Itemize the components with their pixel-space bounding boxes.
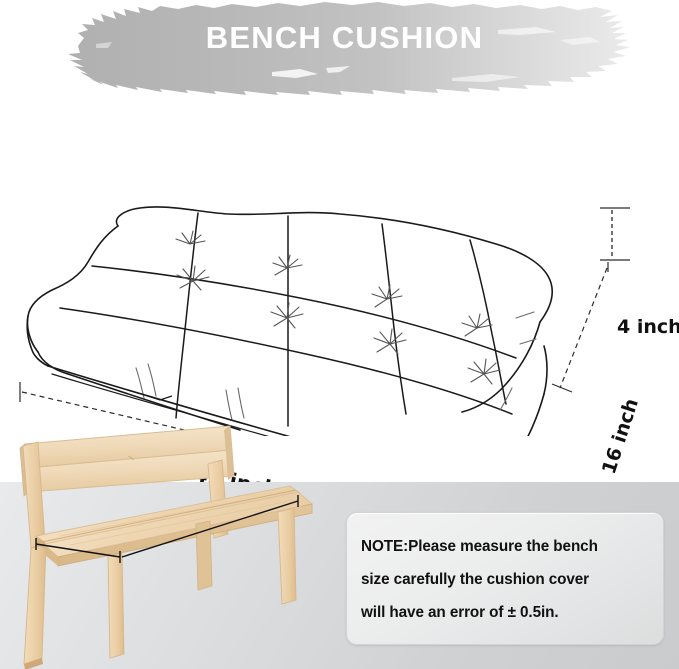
wooden-bench-graphic (0, 414, 340, 669)
infographic-page: BENCH CUSHION (0, 0, 679, 669)
note-line-2: size carefully the cushion cover (361, 563, 649, 596)
header-banner: BENCH CUSHION (0, 0, 679, 100)
bench-illustration: Wide Length (0, 414, 340, 669)
page-title: BENCH CUSHION (0, 18, 679, 58)
note-box: NOTE:Please measure the bench size caref… (346, 512, 664, 645)
cushion-line-art (0, 96, 679, 436)
note-line-1: NOTE:Please measure the bench (361, 530, 649, 563)
dimension-label-thickness: 4 inch (617, 316, 679, 338)
note-line-3: will have an error of ± 0.5in. (361, 596, 649, 629)
cushion-diagram: 42 inch 4 inch 16 inch (0, 96, 679, 436)
